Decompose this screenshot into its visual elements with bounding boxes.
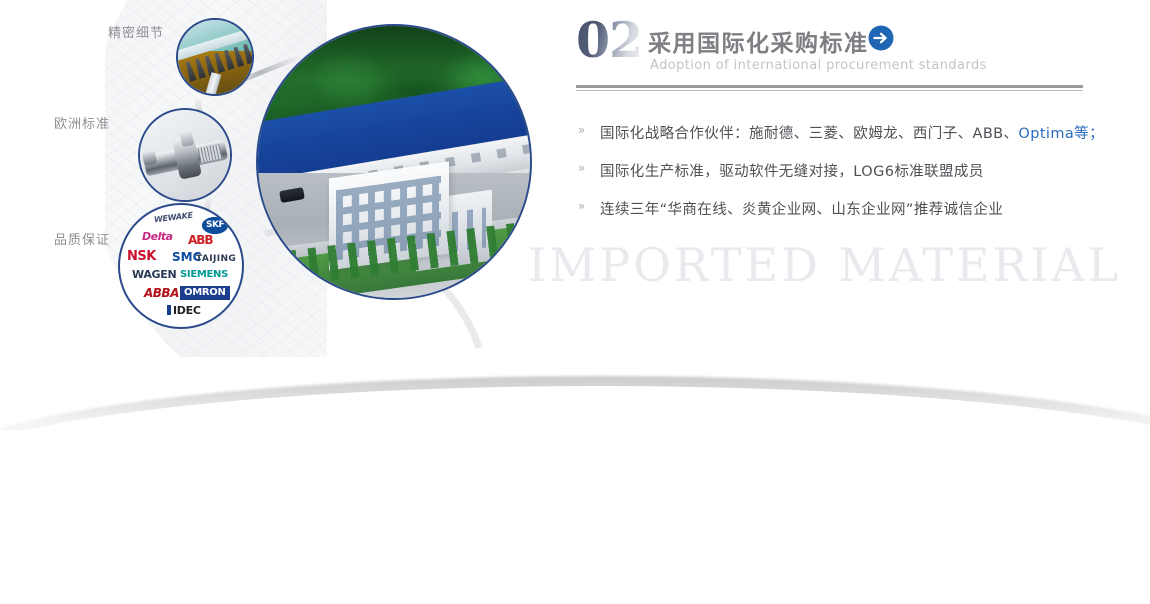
label-precision-detail: 精密细节 — [108, 22, 164, 41]
logo-nsk: NSK — [127, 250, 156, 263]
list-item-text: 连续三年“华商在线、炎黄企业网、山东企业网”推荐诚信企业 — [600, 202, 1003, 218]
section-header: 02 采用国际化采购标准 Adoption of international p… — [576, 22, 1096, 84]
list-item: »连续三年“华商在线、炎黄企业网、山东企业网”推荐诚信企业 — [576, 198, 1096, 219]
logo-abba: ABBA — [144, 287, 179, 299]
brand-logo-cluster: WEWAKE SKF Delta ABB NSK SMC TAIJING WAG… — [118, 203, 244, 329]
header-divider — [576, 85, 1083, 91]
watermark-text: IMPORTED MATERIAL — [528, 238, 1121, 292]
logo-idec: IDEC — [167, 305, 201, 316]
section-title-cn: 采用国际化采购标准 — [648, 24, 869, 58]
logo-taijing: TAIJING — [196, 255, 236, 264]
label-european-standard: 欧洲标准 — [54, 113, 110, 132]
list-item-accent: Optima等； — [1018, 126, 1104, 142]
bullet-chevron-icon: » — [578, 161, 586, 175]
list-item: »国际化生产标准，驱动软件无缝对接，LOG6标准联盟成员 — [576, 160, 1096, 181]
ball-screw-photo — [138, 108, 232, 202]
arrow-right-circle-icon[interactable] — [868, 25, 894, 51]
logo-skf: SKF — [202, 217, 228, 234]
precision-detail-photo — [176, 18, 254, 96]
section-subtitle-en: Adoption of international procurement st… — [650, 58, 987, 73]
label-quality-assurance: 品质保证 — [54, 229, 110, 248]
bullet-chevron-icon: » — [578, 199, 586, 213]
section-number: 02 — [576, 16, 642, 65]
logo-wagen: WAGEN — [132, 269, 176, 280]
content-column: 02 采用国际化采购标准 Adoption of international p… — [576, 22, 1096, 84]
logo-siemens: SIEMENS — [180, 270, 228, 280]
list-item: »国际化战略合作伙伴：施耐德、三菱、欧姆龙、西门子、ABB、Optima等； — [576, 122, 1096, 143]
hero-factory-photo — [256, 24, 532, 300]
feature-list: »国际化战略合作伙伴：施耐德、三菱、欧姆龙、西门子、ABB、Optima等； »… — [576, 122, 1096, 236]
logo-omron: OMRON — [180, 286, 230, 300]
bullet-chevron-icon: » — [578, 123, 586, 137]
logo-delta: Delta — [142, 231, 173, 242]
list-item-text: 国际化战略合作伙伴：施耐德、三菱、欧姆龙、西门子、ABB、 — [600, 126, 1018, 142]
logo-abb: ABB — [188, 234, 213, 246]
list-item-text: 国际化生产标准，驱动软件无缝对接，LOG6标准联盟成员 — [600, 164, 984, 180]
logo-wewake: WEWAKE — [154, 212, 194, 225]
